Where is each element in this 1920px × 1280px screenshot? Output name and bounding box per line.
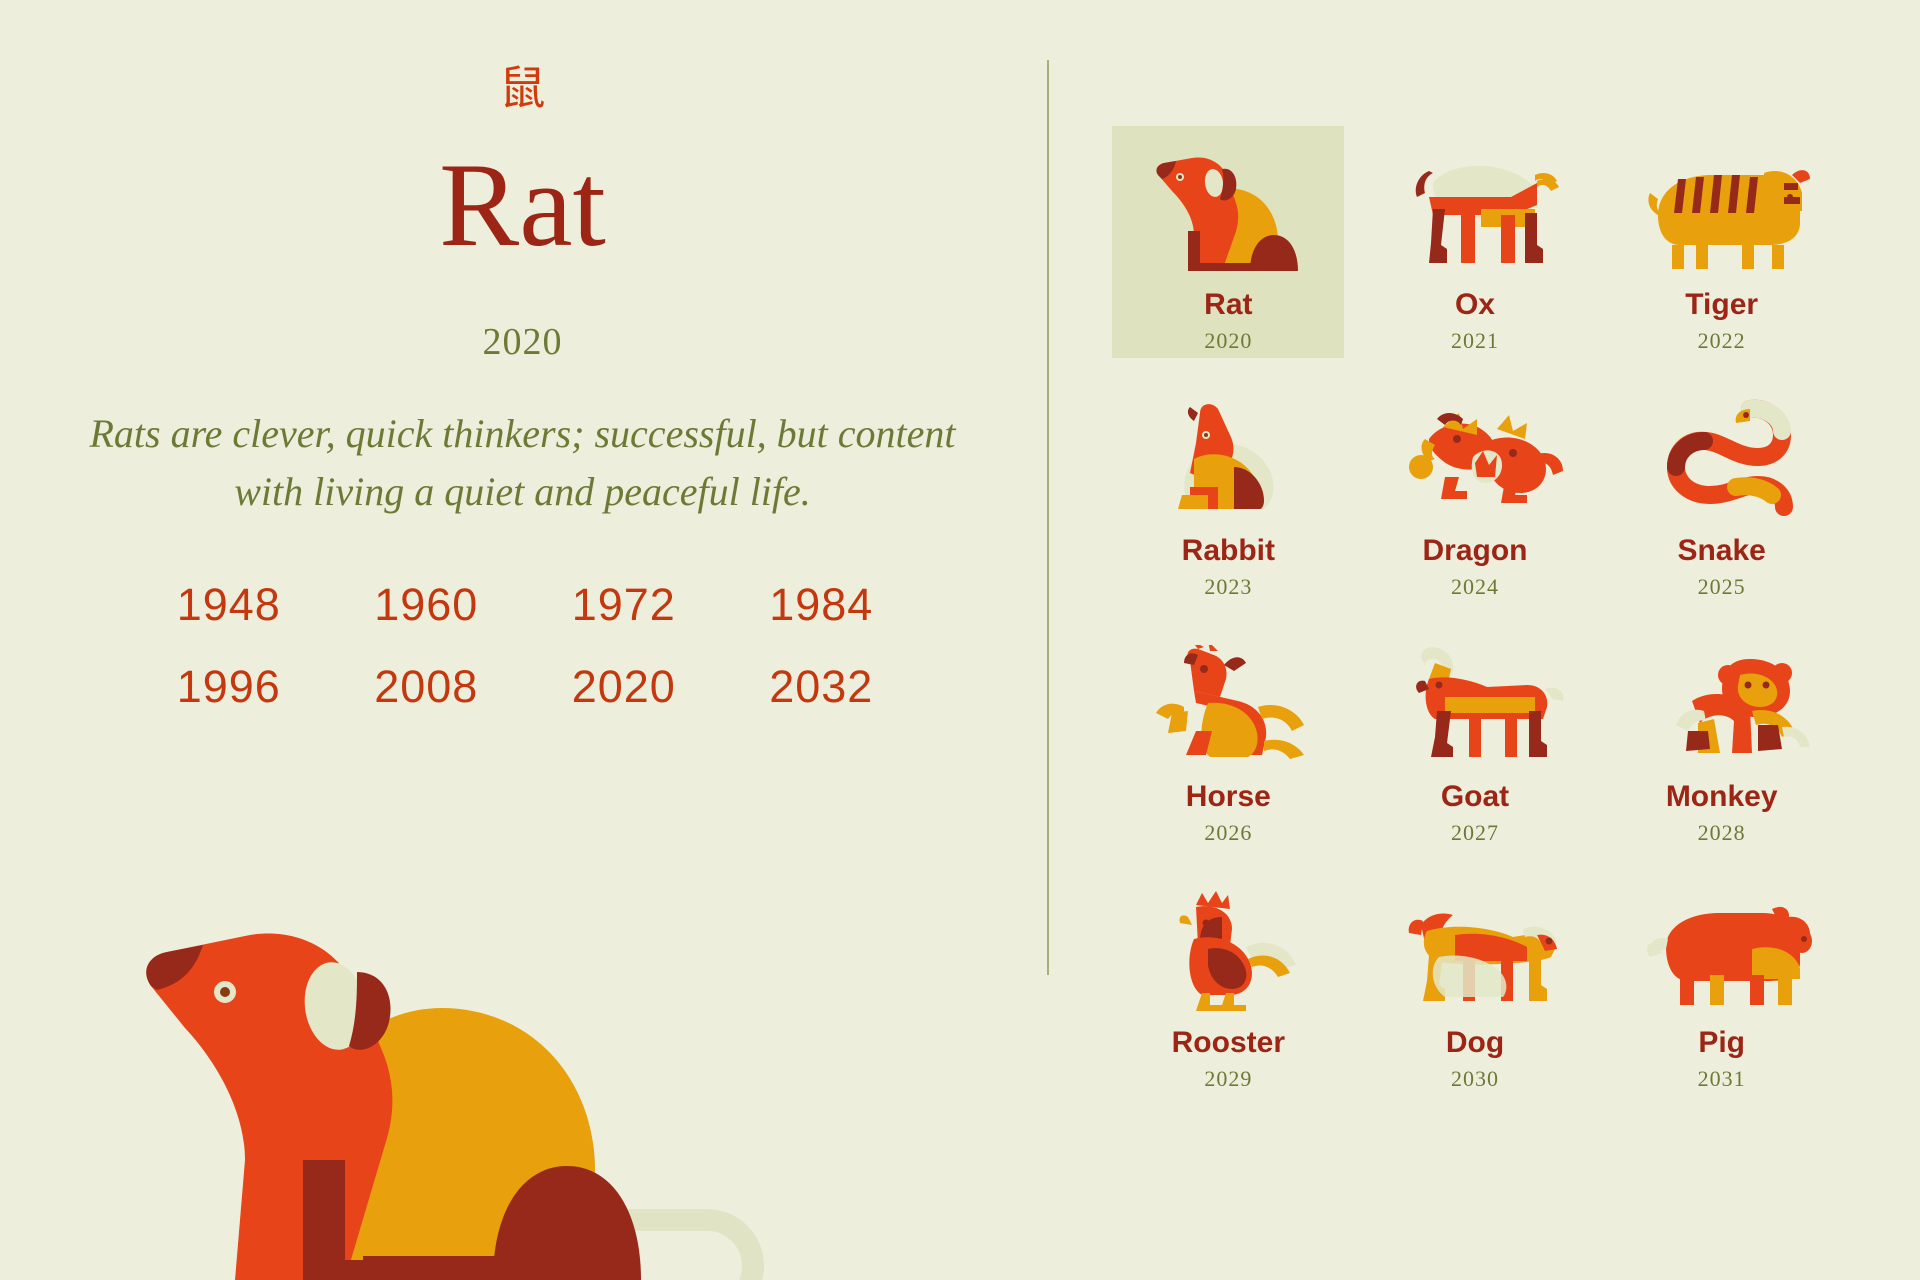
page-title: Rat: [0, 140, 1045, 270]
zodiac-card-dog[interactable]: Dog 2030: [1352, 873, 1599, 1119]
year-item[interactable]: 2020: [572, 657, 676, 717]
zodiac-card-pig[interactable]: Pig 2031: [1598, 873, 1845, 1119]
zodiac-hanzi-character: 鼠: [0, 60, 1045, 116]
zodiac-card-year: 2023: [1204, 573, 1252, 601]
rat-icon: [1138, 153, 1318, 273]
year-item[interactable]: 1984: [769, 575, 873, 635]
zodiac-card-label: Horse: [1186, 779, 1271, 815]
zodiac-card-label: Snake: [1677, 533, 1765, 569]
zodiac-card-label: Goat: [1441, 779, 1509, 815]
zodiac-card-label: Dragon: [1422, 533, 1527, 569]
dog-icon: [1385, 891, 1565, 1011]
zodiac-page: 鼠 Rat 2020 Rats are clever, quick thinke…: [0, 0, 1920, 1280]
vertical-divider: [1047, 60, 1049, 975]
zodiac-card-label: Monkey: [1666, 779, 1778, 815]
rat-illustration: [95, 860, 795, 1280]
zodiac-card-year: 2025: [1698, 573, 1746, 601]
zodiac-card-label: Pig: [1698, 1025, 1745, 1061]
zodiac-card-year: 2021: [1451, 327, 1499, 355]
zodiac-card-label: Ox: [1455, 287, 1495, 323]
zodiac-card-year: 2030: [1451, 1065, 1499, 1093]
rabbit-icon: [1138, 399, 1318, 519]
year-item[interactable]: 1960: [374, 575, 478, 635]
zodiac-card-year: 2024: [1451, 573, 1499, 601]
year-item[interactable]: 2008: [374, 657, 478, 717]
zodiac-card-year: 2031: [1698, 1065, 1746, 1093]
goat-icon: [1385, 645, 1565, 765]
zodiac-card-ox[interactable]: Ox 2021: [1352, 135, 1599, 381]
zodiac-card-year: 2029: [1204, 1065, 1252, 1093]
zodiac-card-label: Rooster: [1172, 1025, 1285, 1061]
zodiac-card-monkey[interactable]: Monkey 2028: [1598, 627, 1845, 873]
zodiac-card-rabbit[interactable]: Rabbit 2023: [1105, 381, 1352, 627]
dragon-icon: [1385, 399, 1565, 519]
sign-description: Rats are clever, quick thinkers; success…: [60, 405, 985, 521]
years-grid: 1948 1960 1972 1984 1996 2008 2020 2032: [130, 575, 920, 717]
zodiac-card-label: Rabbit: [1182, 533, 1275, 569]
sign-detail-panel: 鼠 Rat 2020 Rats are clever, quick thinke…: [0, 0, 1045, 1280]
zodiac-card-label: Tiger: [1685, 287, 1758, 323]
pig-icon: [1632, 891, 1812, 1011]
zodiac-card-goat[interactable]: Goat 2027: [1352, 627, 1599, 873]
sign-year: 2020: [0, 320, 1045, 364]
year-item[interactable]: 2032: [769, 657, 873, 717]
zodiac-card-tiger[interactable]: Tiger 2022: [1598, 135, 1845, 381]
zodiac-grid: Rat 2020 Ox 2021: [1105, 135, 1845, 1119]
zodiac-card-label: Rat: [1204, 287, 1252, 323]
zodiac-card-dragon[interactable]: Dragon 2024: [1352, 381, 1599, 627]
monkey-icon: [1632, 645, 1812, 765]
zodiac-card-label: Dog: [1446, 1025, 1504, 1061]
ox-icon: [1385, 153, 1565, 273]
year-item[interactable]: 1948: [177, 575, 281, 635]
zodiac-card-year: 2022: [1698, 327, 1746, 355]
zodiac-card-horse[interactable]: Horse 2026: [1105, 627, 1352, 873]
zodiac-card-year: 2028: [1698, 819, 1746, 847]
tiger-icon: [1632, 153, 1812, 273]
horse-icon: [1138, 645, 1318, 765]
zodiac-card-snake[interactable]: Snake 2025: [1598, 381, 1845, 627]
zodiac-card-rat[interactable]: Rat 2020: [1105, 135, 1352, 381]
year-item[interactable]: 1972: [572, 575, 676, 635]
year-item[interactable]: 1996: [177, 657, 281, 717]
zodiac-card-year: 2027: [1451, 819, 1499, 847]
zodiac-card-year: 2026: [1204, 819, 1252, 847]
snake-icon: [1632, 399, 1812, 519]
zodiac-card-rooster[interactable]: Rooster 2029: [1105, 873, 1352, 1119]
rooster-icon: [1138, 891, 1318, 1011]
zodiac-card-year: 2020: [1204, 327, 1252, 355]
